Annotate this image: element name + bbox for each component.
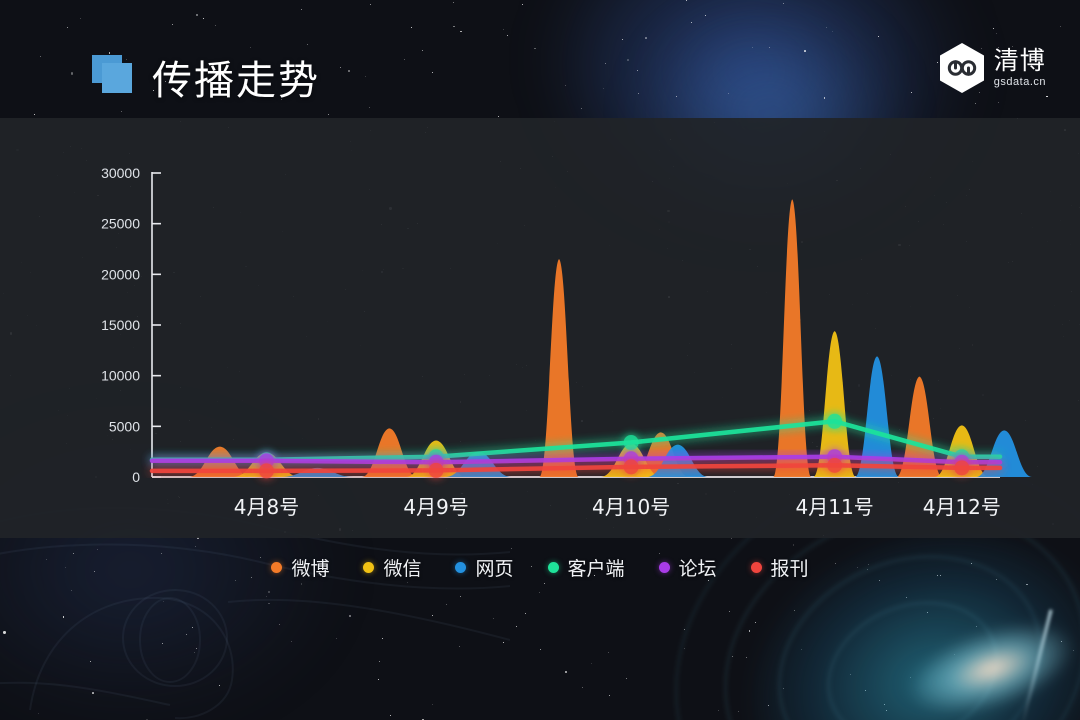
legend-item-label: 报刊 <box>771 554 809 581</box>
legend-color-dot <box>271 562 282 573</box>
chart-legend: 微博微信网页客户端论坛报刊 <box>0 548 1080 586</box>
x-axis-tick-label: 4月9号 <box>403 495 468 519</box>
chart-peak-areas <box>188 199 1032 477</box>
trend-chart: 050001000015000200002500030000 4月8号4月9号4… <box>0 0 1080 720</box>
legend-color-dot <box>751 562 762 573</box>
legend-color-dot <box>455 562 466 573</box>
y-axis-tick-label: 0 <box>132 469 140 485</box>
x-axis-tick-label: 4月12号 <box>923 495 1001 519</box>
legend-color-dot <box>363 562 374 573</box>
legend-item-label: 微信 <box>383 554 421 581</box>
chart-point-报刊 <box>954 460 969 475</box>
y-axis-tick-label: 20000 <box>101 266 140 282</box>
chart-canvas: 050001000015000200002500030000 4月8号4月9号4… <box>0 0 1080 720</box>
legend-color-dot <box>548 562 559 573</box>
legend-item-网页[interactable]: 网页 <box>455 554 513 581</box>
legend-item-label: 微博 <box>291 554 329 581</box>
chart-peak-微博 <box>539 259 578 477</box>
chart-point-报刊 <box>624 459 639 474</box>
x-axis-tick-label: 4月11号 <box>796 495 874 519</box>
chart-point-客户端 <box>827 414 842 429</box>
legend-item-微博[interactable]: 微博 <box>271 554 329 581</box>
legend-item-客户端[interactable]: 客户端 <box>548 554 625 581</box>
chart-point-客户端 <box>624 435 639 450</box>
y-axis-tick-label: 15000 <box>101 317 140 333</box>
legend-item-微信[interactable]: 微信 <box>363 554 421 581</box>
legend-item-报刊[interactable]: 报刊 <box>751 554 809 581</box>
x-axis-tick-label: 4月10号 <box>592 495 670 519</box>
chart-point-报刊 <box>259 463 274 478</box>
legend-color-dot <box>659 562 670 573</box>
x-axis-tick-label: 4月8号 <box>234 495 299 519</box>
chart-point-报刊 <box>429 463 444 478</box>
y-axis-tick-label: 5000 <box>109 418 140 434</box>
y-axis-tick-label: 10000 <box>101 368 140 384</box>
legend-item-label: 网页 <box>475 554 513 581</box>
chart-point-报刊 <box>827 458 842 473</box>
legend-item-label: 论坛 <box>679 554 717 581</box>
legend-item-论坛[interactable]: 论坛 <box>659 554 717 581</box>
chart-x-axis-labels: 4月8号4月9号4月10号4月11号4月12号 <box>234 495 1001 519</box>
y-axis-tick-label: 30000 <box>101 165 140 181</box>
legend-item-label: 客户端 <box>568 554 625 581</box>
y-axis-tick-label: 25000 <box>101 216 140 232</box>
chart-peak-微博 <box>773 199 811 477</box>
